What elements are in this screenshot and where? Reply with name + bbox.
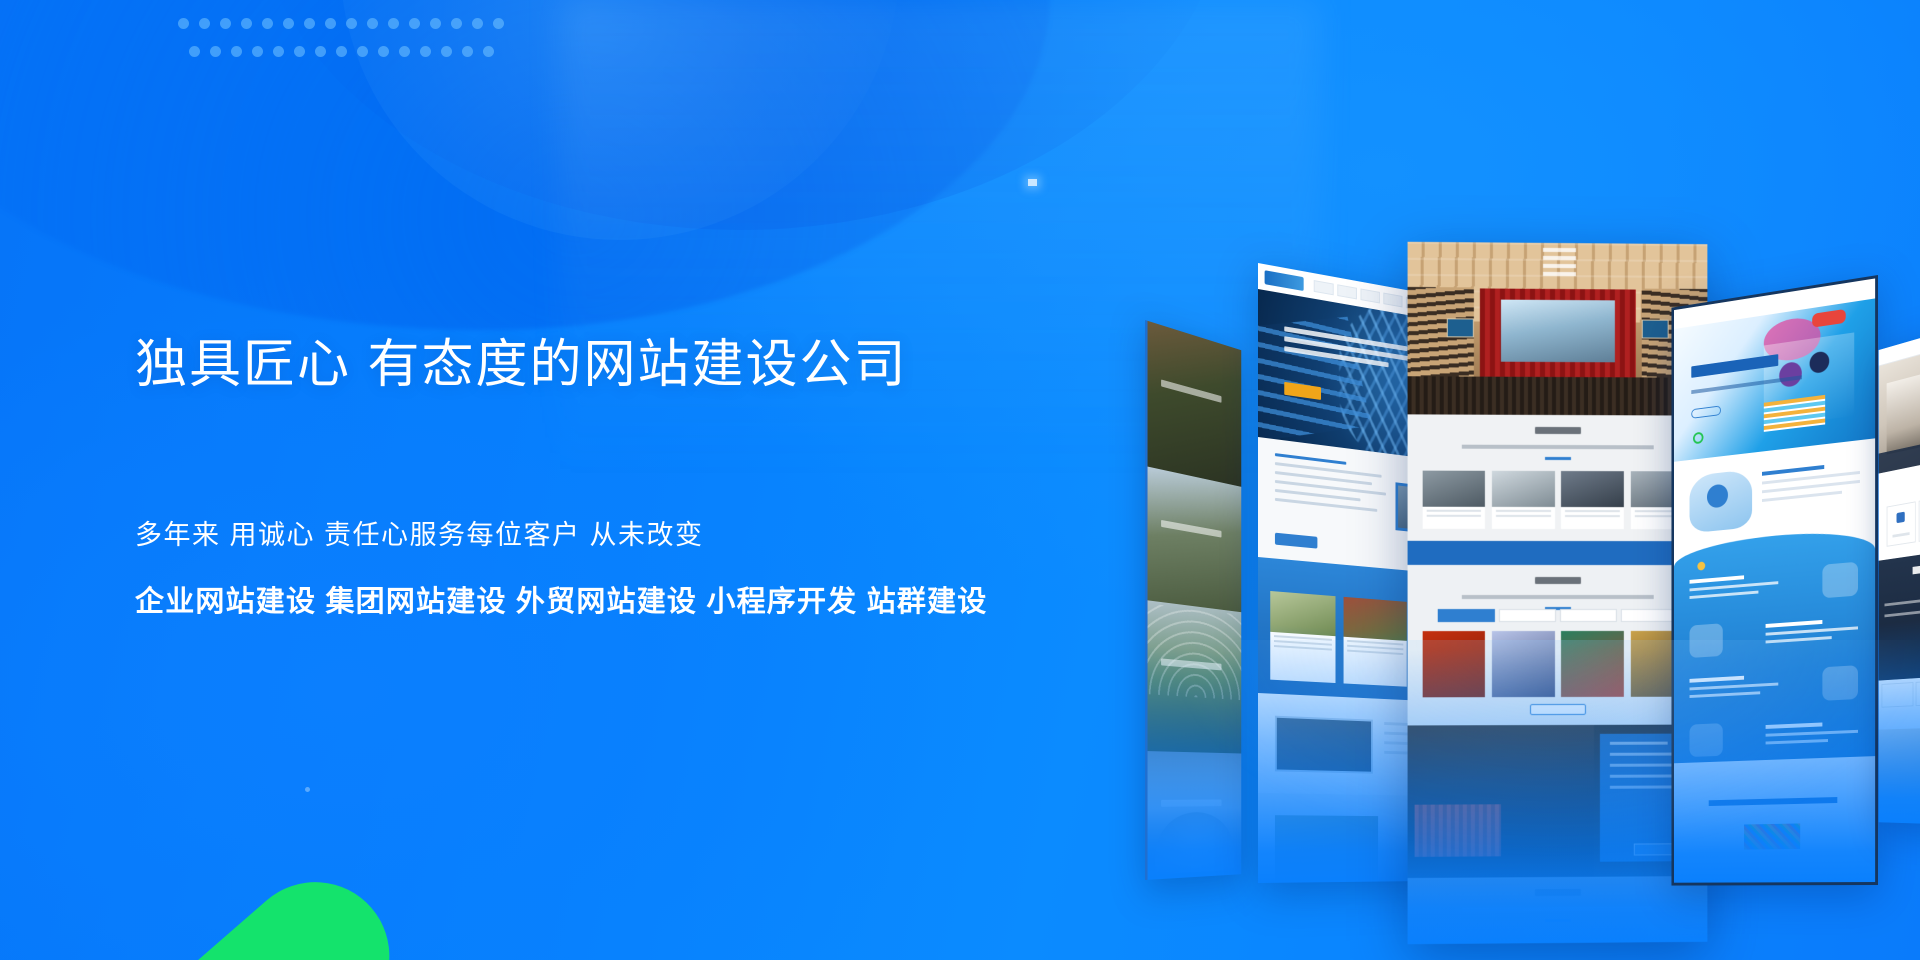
banner-headline: 独具匠心 有态度的网站建设公司 bbox=[135, 336, 1135, 394]
news-thumbnail bbox=[1275, 716, 1373, 774]
intro-text bbox=[1762, 461, 1860, 508]
dot bbox=[220, 18, 231, 29]
nav-item[interactable] bbox=[1314, 280, 1334, 295]
dot bbox=[241, 18, 252, 29]
screen-auditorium[interactable] bbox=[1408, 242, 1708, 944]
section-rule bbox=[1545, 457, 1571, 460]
feature-row[interactable] bbox=[1689, 665, 1858, 715]
nav-item[interactable] bbox=[1337, 284, 1357, 299]
section-title bbox=[1535, 577, 1581, 584]
dot bbox=[315, 46, 326, 57]
dot bbox=[462, 46, 473, 57]
hero-cta-button[interactable] bbox=[1691, 405, 1721, 418]
light-spark bbox=[1028, 179, 1037, 186]
projection-screen bbox=[1501, 299, 1615, 362]
advantage-card[interactable] bbox=[1423, 471, 1486, 529]
tab[interactable] bbox=[1560, 609, 1617, 622]
section-description bbox=[1462, 595, 1654, 599]
dot bbox=[420, 46, 431, 57]
choose-title bbox=[1913, 556, 1920, 574]
tab[interactable] bbox=[1621, 609, 1678, 622]
footer-section bbox=[1674, 774, 1875, 883]
design-cards bbox=[1887, 483, 1920, 547]
intro-illustration bbox=[1689, 469, 1752, 533]
dot bbox=[451, 18, 462, 29]
confetti-illustration bbox=[1744, 823, 1800, 849]
showroom-photo bbox=[1879, 725, 1920, 827]
auditorium-hero-photo bbox=[1408, 242, 1708, 416]
audience-seats bbox=[1408, 376, 1708, 415]
section-rule bbox=[1545, 919, 1571, 922]
dot bbox=[399, 46, 410, 57]
nav-item[interactable] bbox=[1383, 293, 1402, 308]
feature-icon bbox=[1689, 723, 1722, 757]
feature-icon bbox=[1689, 623, 1722, 658]
red-blob bbox=[1813, 308, 1846, 327]
choose-our-reason-section bbox=[1879, 539, 1920, 681]
screen-aerial-stack[interactable] bbox=[1145, 320, 1241, 880]
book-stack-illustration bbox=[1764, 394, 1825, 432]
product-card[interactable] bbox=[1270, 591, 1335, 684]
green-circle-icon bbox=[1693, 432, 1703, 445]
section-title bbox=[1535, 889, 1581, 896]
banner-copy: 独具匠心 有态度的网站建设公司 多年来 用诚心 责任心服务每位客户 从未改变 企… bbox=[135, 336, 1135, 619]
theatre-photo bbox=[1408, 725, 1594, 878]
feature-text bbox=[1765, 721, 1858, 749]
dot bbox=[483, 46, 494, 57]
aerial-photo-3 bbox=[1148, 600, 1242, 753]
section-title bbox=[1535, 427, 1581, 434]
dot bbox=[409, 18, 420, 29]
website-mockup-montage bbox=[1150, 245, 1920, 765]
screen-design-corporate[interactable] bbox=[1879, 307, 1920, 827]
stage-machinery-section bbox=[1408, 876, 1708, 944]
dot-row-top bbox=[178, 18, 1218, 30]
section-description bbox=[1462, 906, 1654, 911]
dot bbox=[388, 18, 399, 29]
dot bbox=[231, 46, 242, 57]
green-capsule bbox=[96, 852, 420, 960]
banner-subtitle-line-1: 多年来 用诚心 责任心服务每位客户 从未改变 bbox=[135, 519, 1135, 551]
aerial-photo-1 bbox=[1148, 321, 1242, 487]
tab-active[interactable] bbox=[1438, 609, 1495, 622]
feature-icon bbox=[1823, 562, 1859, 599]
banner-subtitle-line-2: 企业网站建设 集团网站建设 外贸网站建设 小程序开发 站群建设 bbox=[135, 585, 1135, 620]
banner-subtitle-block: 多年来 用诚心 责任心服务每位客户 从未改变 企业网站建设 集团网站建设 外贸网… bbox=[135, 519, 1135, 619]
aerial-photo-2 bbox=[1148, 466, 1242, 612]
about-more-button[interactable] bbox=[1275, 532, 1317, 548]
dot bbox=[189, 46, 200, 57]
product-intro-section bbox=[1408, 565, 1708, 726]
advantage-card[interactable] bbox=[1492, 471, 1555, 529]
screen-english-learning[interactable] bbox=[1671, 275, 1878, 886]
dot bbox=[325, 18, 336, 29]
dot bbox=[178, 18, 189, 29]
micro-dot bbox=[305, 787, 310, 792]
advantage-card[interactable] bbox=[1561, 471, 1623, 529]
site-logo bbox=[1265, 270, 1304, 291]
company-profile-section bbox=[1408, 725, 1708, 878]
dot bbox=[199, 18, 210, 29]
dot bbox=[493, 18, 504, 29]
company-advantage-section bbox=[1408, 414, 1708, 541]
dot bbox=[294, 46, 305, 57]
dot bbox=[252, 46, 263, 57]
feature-icon bbox=[1823, 665, 1859, 701]
blue-divider-band bbox=[1408, 541, 1708, 565]
tab[interactable] bbox=[1499, 609, 1556, 622]
dot bbox=[378, 46, 389, 57]
section-description bbox=[1462, 445, 1654, 450]
advantage-cards bbox=[1423, 471, 1693, 530]
dot bbox=[430, 18, 441, 29]
dot bbox=[304, 18, 315, 29]
footer-caption bbox=[1709, 797, 1838, 806]
about-text bbox=[1275, 453, 1396, 520]
dot bbox=[367, 18, 378, 29]
product-photo[interactable] bbox=[1561, 631, 1623, 697]
product-card[interactable] bbox=[1344, 596, 1406, 687]
dot bbox=[273, 46, 284, 57]
design-card[interactable] bbox=[1887, 501, 1916, 546]
hero-nav-menu[interactable] bbox=[1543, 248, 1576, 280]
hero-banner: 独具匠心 有态度的网站建设公司 多年来 用诚心 责任心服务每位客户 从未改变 企… bbox=[0, 0, 1920, 960]
feature-text bbox=[1689, 572, 1778, 603]
dot-row-bottom bbox=[189, 46, 1229, 58]
feature-row[interactable] bbox=[1689, 717, 1858, 765]
feature-text bbox=[1689, 674, 1778, 703]
dot bbox=[262, 18, 273, 29]
dot-grid-pattern bbox=[178, 8, 1218, 64]
service-tile[interactable] bbox=[1915, 680, 1920, 706]
product-tabs[interactable] bbox=[1438, 609, 1678, 622]
dot bbox=[336, 46, 347, 57]
dot bbox=[441, 46, 452, 57]
nav-item[interactable] bbox=[1361, 288, 1380, 303]
lobby-interior bbox=[1887, 349, 1920, 455]
facility-photo bbox=[1275, 815, 1378, 883]
product-gallery bbox=[1423, 631, 1693, 697]
product-photo[interactable] bbox=[1492, 631, 1555, 697]
side-display-right bbox=[1642, 319, 1669, 338]
feature-text bbox=[1765, 617, 1858, 648]
view-more-button[interactable] bbox=[1530, 704, 1586, 715]
reason-list-left bbox=[1884, 599, 1920, 625]
dot bbox=[357, 46, 368, 57]
service-tile[interactable] bbox=[1882, 682, 1914, 708]
dot bbox=[283, 18, 294, 29]
aerial-photo-4 bbox=[1148, 751, 1242, 880]
dot bbox=[210, 46, 221, 57]
red-seats bbox=[1415, 804, 1501, 856]
dot bbox=[472, 18, 483, 29]
side-display-left bbox=[1447, 318, 1474, 337]
dot bbox=[346, 18, 357, 29]
product-photo[interactable] bbox=[1423, 631, 1486, 697]
